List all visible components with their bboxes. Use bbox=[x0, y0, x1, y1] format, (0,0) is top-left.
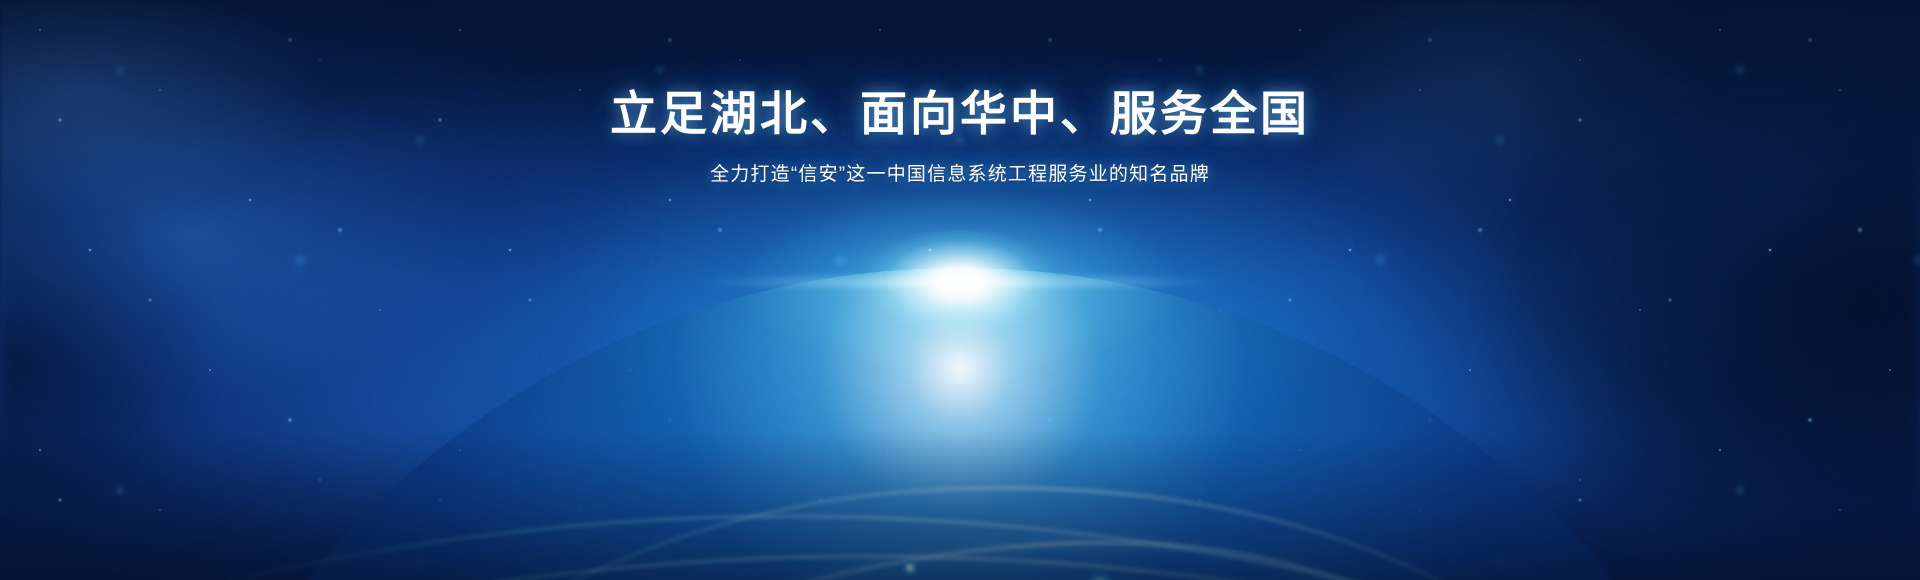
central-light-burst bbox=[680, 182, 1240, 382]
hero-banner: 立足湖北、面向华中、服务全国 全力打造“信安”这一中国信息系统工程服务业的知名品… bbox=[0, 0, 1920, 580]
hero-subtitle: 全力打造“信安”这一中国信息系统工程服务业的知名品牌 bbox=[0, 159, 1920, 186]
bottom-vignette bbox=[0, 430, 1920, 580]
hero-text-block: 立足湖北、面向华中、服务全国 全力打造“信安”这一中国信息系统工程服务业的知名品… bbox=[0, 86, 1920, 186]
hero-title: 立足湖北、面向华中、服务全国 bbox=[0, 86, 1920, 141]
